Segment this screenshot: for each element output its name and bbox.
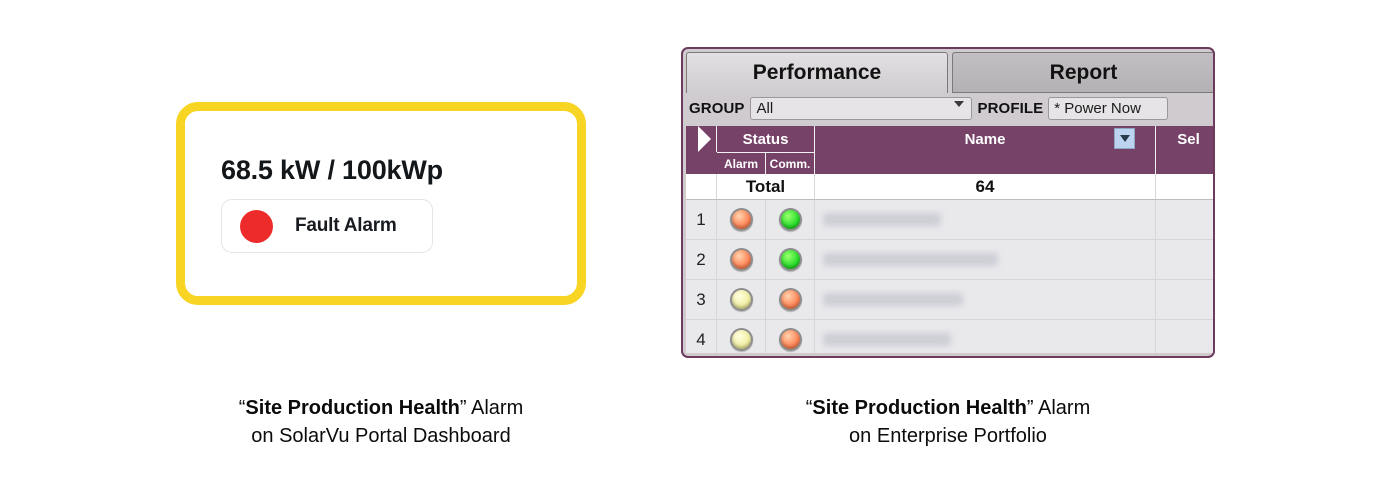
caption-left-quote-close: ”: [460, 397, 467, 419]
group-label: GROUP: [689, 100, 745, 117]
alarm-led-icon: [730, 208, 753, 231]
flag-arrow-icon: [698, 126, 711, 152]
caption-left-after: Alarm: [467, 397, 524, 419]
total-row-select: [1156, 174, 1213, 200]
red-status-dot-icon: [240, 210, 273, 243]
alarm-status-cell[interactable]: [717, 240, 766, 280]
column-header-name[interactable]: Name: [815, 126, 1156, 152]
caption-right-line2: on Enterprise Portfolio: [703, 422, 1193, 450]
column-header-status[interactable]: Status: [717, 126, 815, 152]
subheader-select-spacer: [1156, 152, 1213, 174]
total-row-index: [686, 174, 717, 200]
caption-right: “Site Production Health” Alarm on Enterp…: [703, 394, 1193, 451]
comm-led-icon: [779, 328, 802, 351]
alarm-status-cell[interactable]: [717, 320, 766, 353]
group-select-value: All: [757, 100, 774, 117]
select-cell[interactable]: [1156, 280, 1213, 320]
table-total-row: Total 64: [686, 174, 1213, 200]
comm-led-icon: [779, 248, 802, 271]
row-index: 2: [686, 240, 717, 280]
alarm-led-icon: [730, 248, 753, 271]
redacted-site-name: [823, 213, 941, 226]
chevron-down-icon: [954, 101, 964, 107]
site-name-cell[interactable]: [815, 240, 1156, 280]
comm-led-icon: [779, 288, 802, 311]
column-header-select[interactable]: Sel: [1156, 126, 1213, 152]
redacted-site-name: [823, 293, 963, 306]
name-sort-button[interactable]: [1114, 128, 1135, 149]
total-row-label: Total: [717, 174, 815, 200]
row-index: 4: [686, 320, 717, 353]
enterprise-portfolio-panel: Performance Report GROUP All PROFILE * P…: [681, 47, 1215, 358]
row-index: 1: [686, 200, 717, 240]
caption-right-quoted: Site Production Health: [812, 397, 1026, 419]
comm-led-icon: [779, 208, 802, 231]
caption-right-after: Alarm: [1034, 397, 1091, 419]
caption-left-line1: “Site Production Health” Alarm: [136, 394, 626, 422]
subheader-name-spacer: [815, 152, 1156, 174]
table-row[interactable]: 3: [686, 280, 1213, 320]
row-index: 3: [686, 280, 717, 320]
site-name-cell[interactable]: [815, 200, 1156, 240]
profile-value: * Power Now: [1054, 100, 1141, 117]
tab-performance-label: Performance: [753, 61, 881, 85]
column-header-alarm[interactable]: Alarm: [717, 152, 766, 174]
alarm-status-cell[interactable]: [717, 280, 766, 320]
redacted-site-name: [823, 333, 951, 346]
solarvu-dashboard-panel: 68.5 kW / 100kWp Fault Alarm: [176, 102, 586, 305]
caption-left: “Site Production Health” Alarm on SolarV…: [136, 394, 626, 451]
comm-status-cell[interactable]: [766, 280, 815, 320]
table-row[interactable]: 1: [686, 200, 1213, 240]
tab-report-label: Report: [1050, 61, 1118, 85]
alarm-status-cell[interactable]: [717, 200, 766, 240]
site-name-cell[interactable]: [815, 320, 1156, 353]
site-name-cell[interactable]: [815, 280, 1156, 320]
caption-left-quoted: Site Production Health: [245, 397, 459, 419]
power-readout: 68.5 kW / 100kWp: [221, 155, 443, 186]
column-header-name-label: Name: [965, 131, 1006, 148]
tab-report[interactable]: Report: [952, 52, 1215, 93]
caption-right-quote-close: ”: [1027, 397, 1034, 419]
select-cell[interactable]: [1156, 240, 1213, 280]
caption-right-line1: “Site Production Health” Alarm: [703, 394, 1193, 422]
profile-input[interactable]: * Power Now: [1048, 97, 1168, 120]
table-header: Status Name Sel Alarm Comm.: [686, 126, 1213, 174]
chevron-down-icon: [1120, 135, 1130, 142]
profile-label: PROFILE: [978, 100, 1044, 117]
select-cell[interactable]: [1156, 320, 1213, 353]
comm-status-cell[interactable]: [766, 320, 815, 353]
comm-status-cell[interactable]: [766, 240, 815, 280]
select-cell[interactable]: [1156, 200, 1213, 240]
caption-left-line2: on SolarVu Portal Dashboard: [136, 422, 626, 450]
redacted-site-name: [823, 253, 998, 266]
alarm-led-icon: [730, 288, 753, 311]
total-row-count: 64: [815, 174, 1156, 200]
tab-performance[interactable]: Performance: [686, 52, 948, 93]
fault-alarm-pill[interactable]: Fault Alarm: [221, 199, 433, 253]
group-select[interactable]: All: [750, 97, 972, 120]
table-row[interactable]: 2: [686, 240, 1213, 280]
column-header-comm[interactable]: Comm.: [766, 152, 815, 174]
portfolio-table: Status Name Sel Alarm Comm.: [686, 126, 1213, 353]
alarm-led-icon: [730, 328, 753, 351]
tab-bar: Performance Report: [683, 49, 1213, 93]
table-body: 1234: [686, 200, 1213, 353]
filter-bar: GROUP All PROFILE * Power Now: [683, 93, 1213, 124]
portfolio-window: Performance Report GROUP All PROFILE * P…: [681, 47, 1215, 358]
subheader-corner: [686, 152, 717, 174]
table-row[interactable]: 4: [686, 320, 1213, 353]
comm-status-cell[interactable]: [766, 200, 815, 240]
dashboard-card: 68.5 kW / 100kWp Fault Alarm: [176, 102, 586, 305]
fault-alarm-label: Fault Alarm: [295, 215, 397, 237]
table-corner-cell[interactable]: [686, 126, 717, 152]
